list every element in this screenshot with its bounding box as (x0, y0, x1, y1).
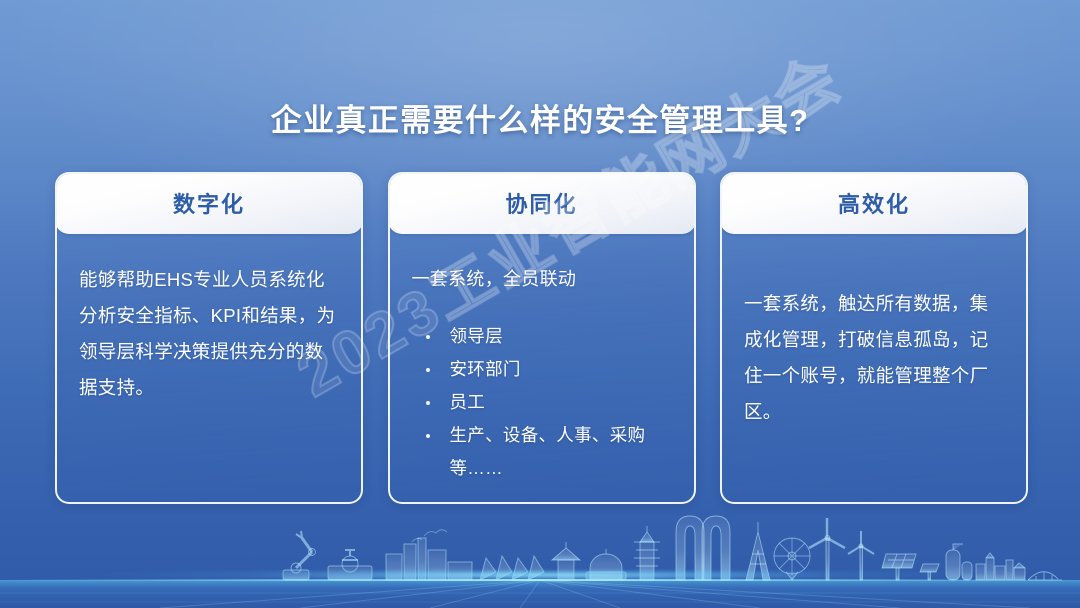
skyline-svg (0, 498, 1080, 608)
horizon-line (0, 579, 1080, 581)
bridge-icon (1028, 572, 1062, 580)
bottom-skyline-decoration (0, 498, 1080, 608)
dome-building-icon (586, 549, 626, 580)
card-heading: 协同化 (505, 187, 577, 219)
townhouses-icon (976, 553, 1025, 580)
factory-smokestack-icon (386, 530, 472, 580)
card-body-digitalization: 能够帮助EHS专业人员系统化分析安全指标、KPI和结果，为领导层科学决策提供充分… (57, 236, 361, 502)
pavilion-icon (552, 542, 580, 580)
pagoda-icon (634, 526, 660, 580)
card-header-efficiency: 高效化 (720, 172, 1028, 234)
card-header-collaboration: 协同化 (388, 172, 696, 234)
wind-turbine-icon (809, 518, 874, 580)
feature-card-collaboration: 协同化 一套系统，全员联动 领导层 安环部门 员工 生产、设备、人事、采购等…… (388, 172, 696, 504)
page-title: 企业真正需要什么样的安全管理工具? (271, 95, 810, 140)
solar-panel-icon (882, 554, 939, 580)
card-bullet-list: 领导层 安环部门 员工 生产、设备、人事、采购等…… (412, 320, 672, 485)
list-item: 安环部门 (424, 353, 672, 386)
horizon-glow-line (0, 570, 1080, 580)
card-body-collaboration: 一套系统，全员联动 领导层 安环部门 员工 生产、设备、人事、采购等…… (390, 236, 694, 502)
feature-card-group: 数字化 能够帮助EHS专业人员系统化分析安全指标、KPI和结果，为领导层科学决策… (55, 172, 1028, 504)
slide-title-wrapper: 企业真正需要什么样的安全管理工具? (0, 74, 1080, 161)
feature-card-efficiency: 高效化 一套系统，触达所有数据，集成化管理，打破信息孤岛，记住一个账号，就能管理… (720, 172, 1028, 504)
card-intro-line: 一套系统，全员联动 (412, 264, 672, 294)
ferris-wheel-icon (774, 538, 810, 580)
list-item: 生产、设备、人事、采购等…… (424, 419, 672, 485)
list-item: 领导层 (424, 320, 672, 353)
skyline-shapes (283, 516, 1062, 580)
presentation-slide: 企业真正需要什么样的安全管理工具? 数字化 能够帮助EHS专业人员系统化分析安全… (0, 0, 1080, 608)
list-item: 员工 (424, 386, 672, 419)
ground-plane (0, 580, 1080, 608)
storage-tank-icon (946, 544, 972, 580)
card-header-digitalization: 数字化 (55, 172, 363, 234)
card-heading: 高效化 (838, 187, 910, 219)
gate-of-the-orient-icon (676, 516, 730, 580)
card-paragraph: 能够帮助EHS专业人员系统化分析安全指标、KPI和结果，为领导层科学决策提供充分… (79, 262, 339, 406)
card-paragraph: 一套系统，触达所有数据，集成化管理，打破信息孤岛，记住一个账号，就能管理整个厂区… (744, 286, 1004, 430)
valve-icon (328, 550, 372, 580)
eiffel-tower-icon (746, 522, 770, 580)
feature-card-digitalization: 数字化 能够帮助EHS专业人员系统化分析安全指标、KPI和结果，为领导层科学决策… (55, 172, 363, 504)
perspective-grid (0, 580, 1080, 608)
card-body-efficiency: 一套系统，触达所有数据，集成化管理，打破信息孤岛，记住一个账号，就能管理整个厂区… (722, 236, 1026, 502)
card-heading: 数字化 (173, 187, 245, 219)
oil-pumpjack-icon (480, 556, 544, 580)
robot-arm-icon (283, 531, 316, 580)
